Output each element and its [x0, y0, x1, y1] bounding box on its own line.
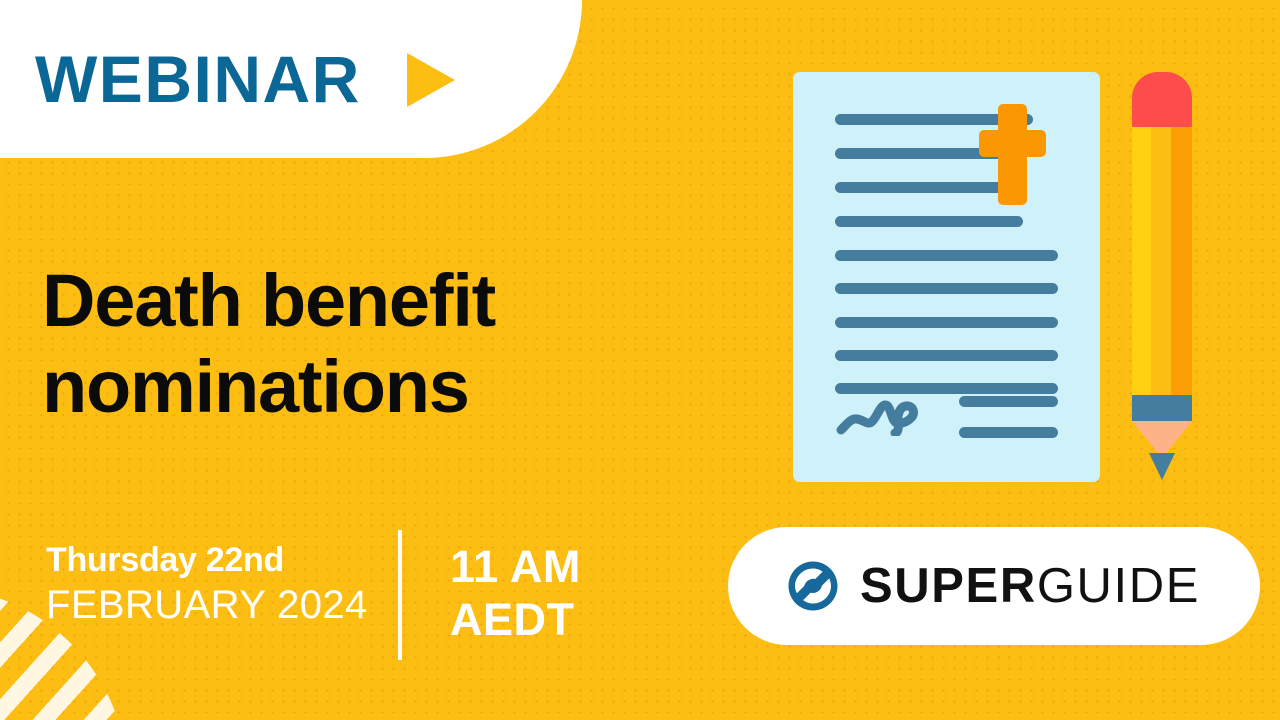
webinar-badge: WEBINAR [0, 0, 582, 158]
headline-line-1: Death benefit [42, 258, 662, 344]
diagonal-stripes-corner [0, 588, 128, 720]
stripes-pattern [0, 588, 128, 720]
superguide-wordmark: SUPER GUIDE [860, 558, 1200, 614]
document-text-line [835, 216, 1023, 227]
schedule-timezone: AEDT [450, 593, 581, 646]
nomination-form-document [793, 72, 1100, 482]
play-triangle-icon [407, 53, 455, 107]
webinar-promo-banner: WEBINAR Death benefit nominations Thursd… [0, 0, 1280, 720]
document-footer-line [959, 427, 1058, 438]
time-column: 11 AM AEDT [450, 540, 581, 646]
logo-super-text: SUPER [860, 558, 1037, 614]
pencil-eraser [1132, 72, 1192, 129]
pencil-illustration [1131, 72, 1193, 482]
pencil-body-stripe [1171, 127, 1192, 397]
document-text-line [835, 317, 1058, 328]
page-title: Death benefit nominations [42, 258, 662, 430]
superguide-logo-pill: SUPER GUIDE [728, 527, 1260, 645]
pencil-body [1132, 127, 1192, 397]
headline-line-2: nominations [42, 344, 662, 430]
pencil-body-stripe [1151, 127, 1171, 397]
stripes-clip [0, 588, 128, 720]
logo-guide-text: GUIDE [1037, 558, 1200, 614]
schedule-time: 11 AM [450, 540, 581, 593]
document-text-line [835, 250, 1058, 261]
schedule-divider [398, 530, 402, 660]
pencil-graphite-tip [1149, 453, 1175, 480]
superguide-logo-mark [788, 561, 838, 611]
webinar-label: WEBINAR [35, 46, 361, 112]
pencil-body-stripe [1132, 127, 1151, 397]
cross-icon [979, 104, 1106, 205]
document-text-line [835, 350, 1058, 361]
document-text-line [835, 283, 1058, 294]
cross-horizontal-bar [979, 130, 1046, 157]
schedule-weekday: Thursday 22nd [46, 540, 398, 581]
signature-squiggle-icon [835, 388, 945, 436]
pencil-ferrule [1132, 395, 1192, 421]
document-footer-line [959, 396, 1058, 407]
